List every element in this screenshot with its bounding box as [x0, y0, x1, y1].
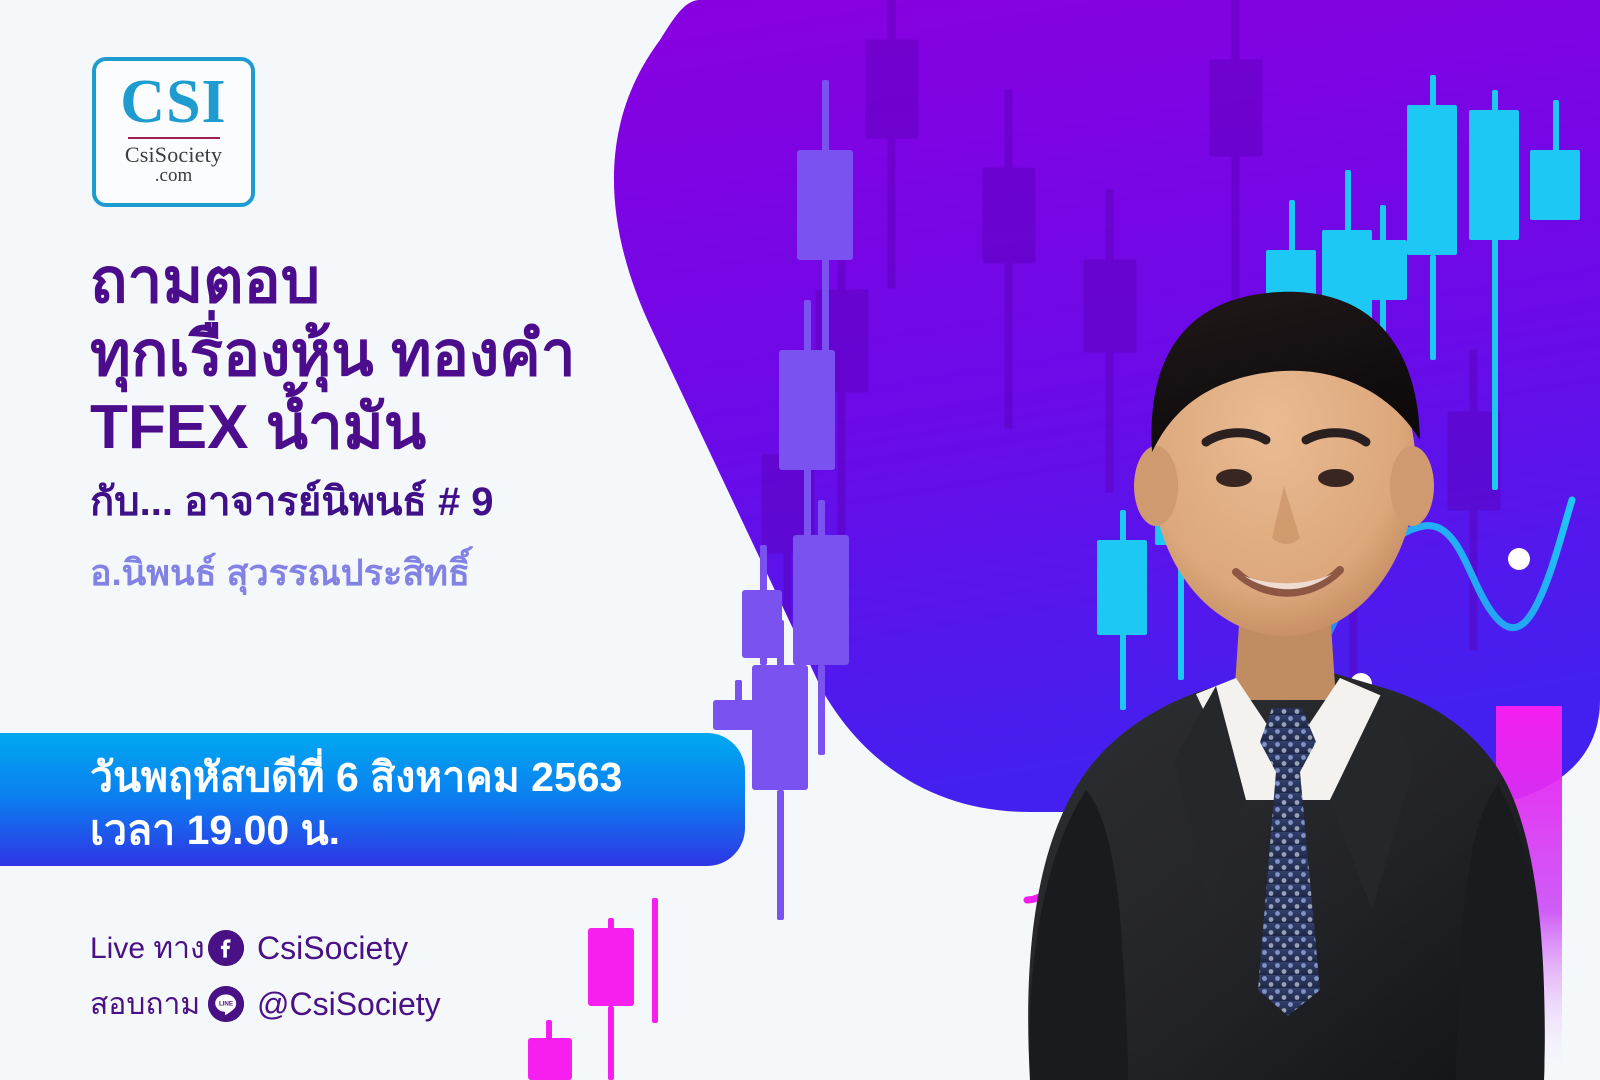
contact-row-facebook: Live ทาง CsiSociety	[90, 920, 441, 976]
facebook-handle[interactable]: CsiSociety	[257, 930, 408, 967]
facebook-icon[interactable]	[208, 930, 244, 966]
csi-logo: CSI CsiSociety .com	[92, 57, 255, 207]
contact-block: Live ทาง CsiSociety สอบถาม LINE @CsiSoci…	[90, 920, 441, 1032]
headline-line-2: ทุกเรื่องหุ้น ทองคำ	[90, 318, 790, 391]
schedule-ribbon: วันพฤหัสบดีที่ 6 สิงหาคม 2563 เวลา 19.00…	[0, 733, 745, 866]
logo-name-text: CsiSociety	[125, 143, 222, 166]
contact-label-live: Live ทาง	[90, 925, 208, 972]
headline-subtitle: กับ... อาจารย์นิพนธ์ # 9	[90, 476, 790, 528]
svg-text:LINE: LINE	[219, 1001, 233, 1008]
schedule-date: วันพฤหัสบดีที่ 6 สิงหาคม 2563	[90, 751, 745, 804]
line-icon[interactable]: LINE	[208, 986, 244, 1022]
schedule-time: เวลา 19.00 น.	[90, 804, 745, 857]
contact-row-line: สอบถาม LINE @CsiSociety	[90, 976, 441, 1032]
logo-domain-text: .com	[155, 166, 192, 187]
contact-label-inquiry: สอบถาม	[90, 981, 208, 1028]
headline-line-3: TFEX น้ำมัน	[90, 391, 790, 464]
logo-mark-text: CSI	[120, 73, 226, 132]
headline-block: ถามตอบ ทุกเรื่องหุ้น ทองคำ TFEX น้ำมัน ก…	[90, 245, 790, 597]
speaker-name: อ.นิพนธ์ สุวรรณประสิทธิ์	[90, 550, 790, 597]
line-handle[interactable]: @CsiSociety	[257, 986, 441, 1023]
promo-banner: CSI CsiSociety .com ถามตอบ ทุกเรื่องหุ้น…	[0, 0, 1600, 1080]
logo-divider-rule	[128, 137, 220, 139]
headline-line-1: ถามตอบ	[90, 245, 790, 318]
